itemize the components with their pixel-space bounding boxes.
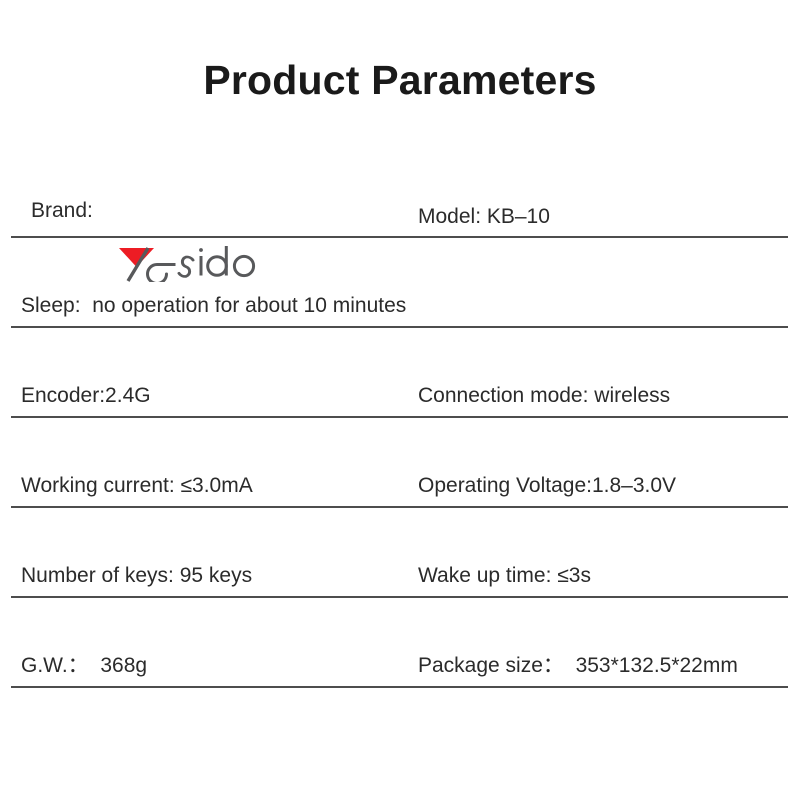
wake-up-time-value: Wake up time: ≤3s: [418, 563, 788, 589]
page-title: Product Parameters: [0, 58, 800, 103]
table-row: Working current: ≤3.0mA Operating Voltag…: [11, 418, 788, 508]
number-of-keys-value: Number of keys: 95 keys: [11, 563, 418, 589]
sleep-value: Sleep: no operation for about 10 minutes: [11, 293, 788, 319]
connection-mode-value: Connection mode: wireless: [418, 383, 788, 409]
table-row: Sleep: no operation for about 10 minutes: [11, 238, 788, 328]
encoder-value: Encoder:2.4G: [11, 383, 418, 409]
table-row: G.W.： 368g Package size： 353*132.5*22mm: [11, 598, 788, 688]
table-row: Brand:: [11, 148, 788, 238]
brand-label: Brand:: [21, 198, 93, 224]
working-current-value: Working current: ≤3.0mA: [11, 473, 418, 499]
model-value: Model: KB–10: [418, 204, 788, 230]
specifications-table: Brand:: [11, 148, 788, 688]
operating-voltage-value: Operating Voltage:1.8–3.0V: [418, 473, 788, 499]
brand-cell: Brand:: [11, 192, 418, 230]
table-row: Encoder:2.4G Connection mode: wireless: [11, 328, 788, 418]
row-divider: [11, 686, 788, 688]
package-size-value: Package size： 353*132.5*22mm: [418, 653, 788, 679]
yesido-logo: [116, 192, 258, 230]
product-parameters-page: Product Parameters Brand:: [0, 0, 800, 800]
gross-weight-value: G.W.： 368g: [11, 653, 418, 679]
table-row: Number of keys: 95 keys Wake up time: ≤3…: [11, 508, 788, 598]
